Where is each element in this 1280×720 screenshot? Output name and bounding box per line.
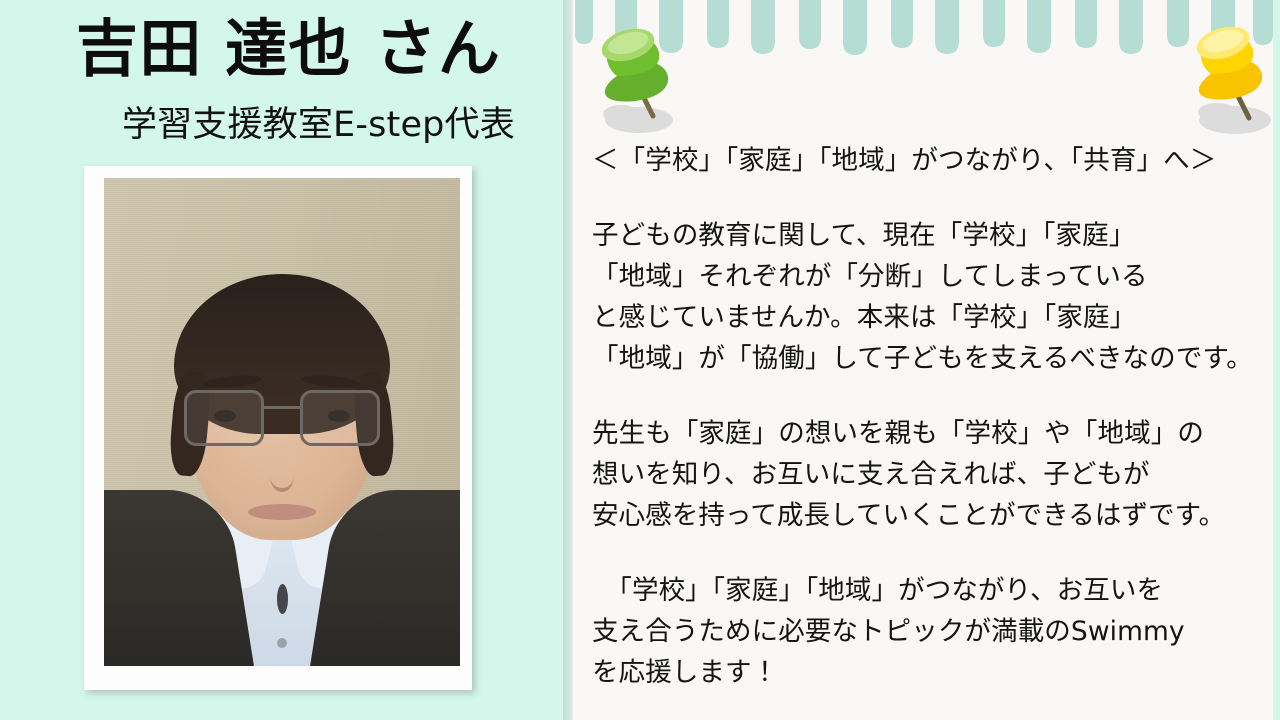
note-line: 安心感を持って成長していくことができるはずです。: [592, 495, 1264, 536]
left-profile-panel: 吉田 達也 さん 学習支援教室E-step代表: [0, 0, 563, 720]
note-body: ＜「学校」「家庭」「地域」がつながり、「共育」へ＞ 子どもの教育に関して、現在「…: [592, 140, 1264, 693]
portrait-glasses-bridge: [264, 406, 300, 409]
spacer: [592, 379, 1264, 413]
note-paragraph-2: 先生も「家庭」の想いを親も「学校」や「地域」の 想いを知り、お互いに支え合えれば…: [592, 413, 1264, 536]
portrait-mouth: [248, 504, 316, 520]
note-line: 「学校」「家庭」「地域」がつながり、お互いを: [592, 570, 1264, 611]
note-line: 支え合うために必要なトピックが満載のSwimmy: [592, 611, 1264, 652]
note-paragraph-1: 子どもの教育に関して、現在「学校」「家庭」 「地域」それぞれが「分断」してしまっ…: [592, 215, 1264, 379]
portrait-lens-left: [184, 390, 264, 446]
portrait-lens-right: [300, 390, 380, 446]
spacer: [592, 181, 1264, 215]
note-line: 「地域」が「協働」して子どもを支えるべきなのです。: [592, 338, 1264, 379]
page-title: 吉田 達也 さん: [76, 14, 501, 83]
torn-paper-edge-decoration: [573, 0, 1273, 60]
portrait-glasses: [184, 390, 380, 450]
note-line: 想いを知り、お互いに支え合えれば、子どもが: [592, 454, 1264, 495]
person-role-subtitle: 学習支援教室E-step代表: [122, 104, 515, 146]
card-right-margin: [1273, 0, 1280, 720]
spacer: [592, 536, 1264, 570]
portrait-frame: [84, 166, 472, 690]
panel-divider: [563, 0, 573, 720]
portrait-lapel-pin: [277, 584, 288, 614]
note-line: 子どもの教育に関して、現在「学校」「家庭」: [592, 215, 1264, 256]
portrait-nose: [270, 460, 294, 492]
note-paragraph-3: 「学校」「家庭」「地域」がつながり、お互いを 支え合うために必要なトピックが満載…: [592, 570, 1264, 693]
note-line: 「地域」それぞれが「分断」してしまっている: [592, 256, 1264, 297]
note-line: と感じていませんか。本来は「学校」「家庭」: [592, 297, 1264, 338]
note-card: ＜「学校」「家庭」「地域」がつながり、「共育」へ＞ 子どもの教育に関して、現在「…: [573, 0, 1273, 720]
portrait-photo: [104, 178, 460, 666]
slide-root: 吉田 達也 さん 学習支援教室E-step代表: [0, 0, 1280, 720]
note-line: 先生も「家庭」の想いを親も「学校」や「地域」の: [592, 413, 1264, 454]
note-heading: ＜「学校」「家庭」「地域」がつながり、「共育」へ＞: [592, 140, 1264, 181]
note-line: を応援します！: [592, 652, 1264, 693]
portrait-shirt-button: [277, 638, 287, 648]
